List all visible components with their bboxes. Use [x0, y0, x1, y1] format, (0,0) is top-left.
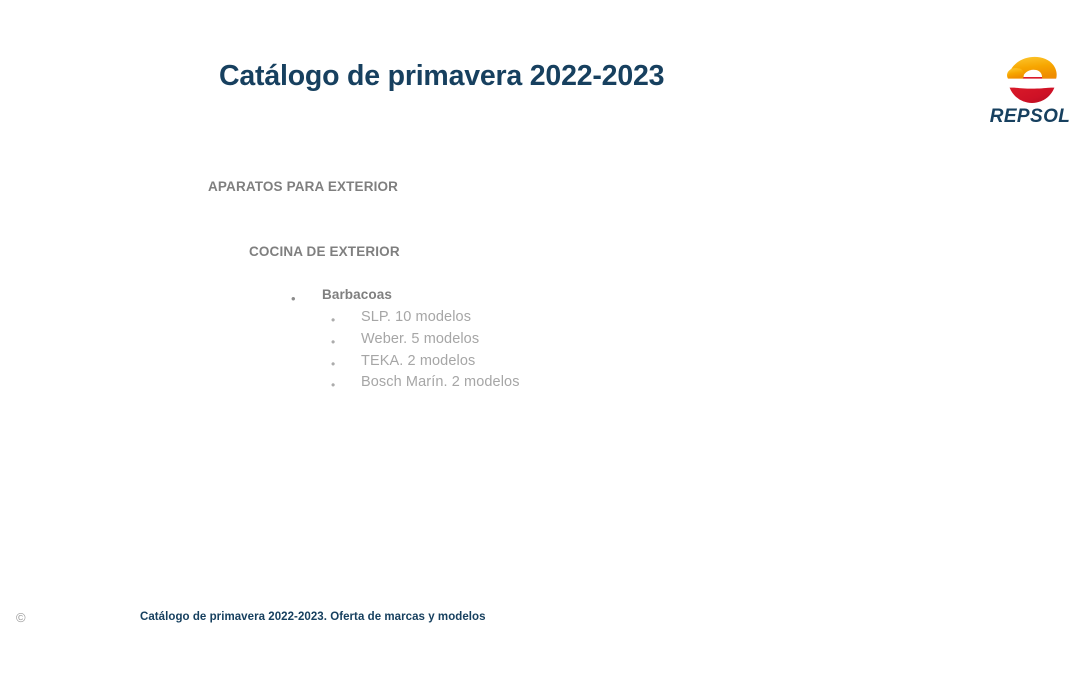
footer-text: Catálogo de primavera 2022-2023. Oferta … [140, 611, 486, 623]
heading-level-2: COCINA DE EXTERIOR [249, 244, 400, 259]
bullet-icon: • [291, 292, 296, 305]
list-item-label: SLP. 10 modelos [361, 309, 471, 325]
bullet-icon: • [331, 314, 335, 326]
list-item-label: Barbacoas [322, 287, 392, 302]
list-item-label: TEKA. 2 modelos [361, 353, 475, 369]
bullet-icon: • [331, 336, 335, 348]
presentation-slide: Catálogo de primavera 2022-2023 [0, 0, 1080, 675]
slide-body: APARATOS PARA EXTERIOR COCINA DE EXTERIO… [0, 0, 1080, 600]
bullet-icon: • [331, 379, 335, 391]
heading-level-1: APARATOS PARA EXTERIOR [208, 179, 398, 194]
list-item-label: Bosch Marín. 2 modelos [361, 374, 520, 390]
bullet-icon: • [331, 358, 335, 370]
list-item-label: Weber. 5 modelos [361, 331, 479, 347]
copyright-icon: © [16, 611, 26, 624]
